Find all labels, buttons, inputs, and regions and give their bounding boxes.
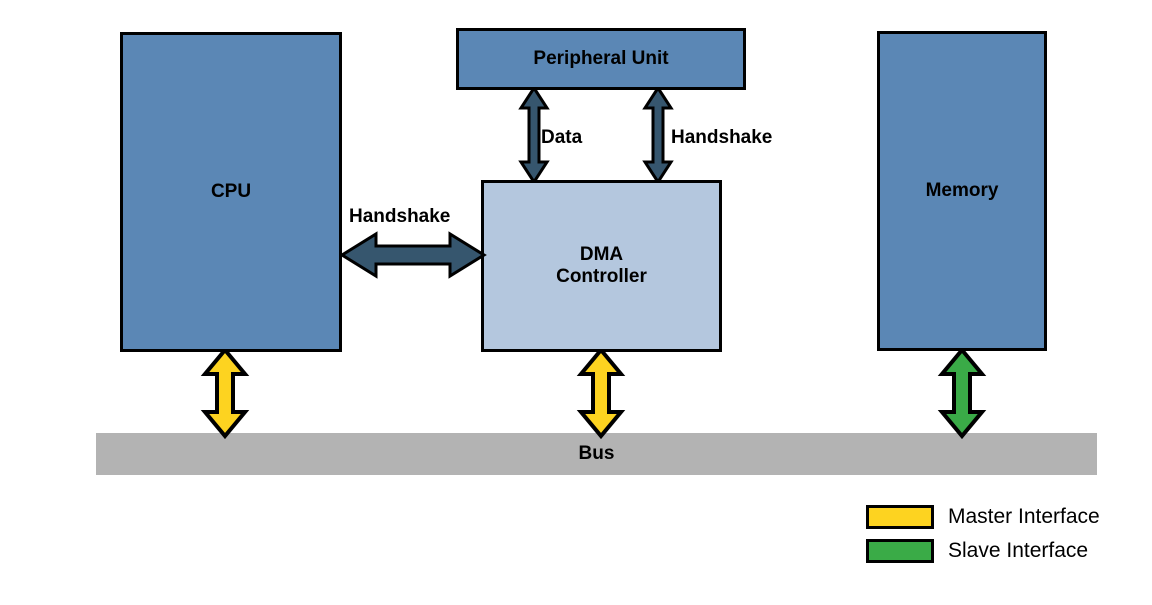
legend-label-slave-interface: Slave Interface (948, 539, 1088, 563)
block-bus[interactable]: Bus (96, 433, 1097, 475)
block-dma-controller-label-line1: DMA (580, 244, 623, 265)
diagram-canvas: CPU Peripheral Unit DMA Controller Memor… (0, 0, 1152, 605)
connector-cpu-bus-master-arrow (203, 350, 247, 436)
connector-cpu-dma-handshake-arrow (342, 232, 484, 278)
block-cpu[interactable]: CPU (120, 32, 342, 352)
block-bus-label: Bus (579, 443, 615, 465)
block-peripheral-unit-label: Peripheral Unit (533, 48, 668, 70)
block-memory-label: Memory (926, 180, 999, 202)
legend-label-master-interface: Master Interface (948, 505, 1100, 529)
block-cpu-label: CPU (211, 181, 251, 203)
connector-peripheral-dma-data-label: Data (541, 127, 582, 149)
connector-dma-bus-master-arrow (579, 350, 623, 436)
connector-cpu-dma-handshake-label: Handshake (349, 206, 450, 228)
legend-swatch-master-interface (866, 505, 934, 529)
block-dma-controller-label: DMA Controller (556, 244, 647, 289)
legend-item-master: Master Interface (866, 502, 1100, 532)
connector-peripheral-dma-handshake-arrow (643, 88, 673, 182)
connector-memory-bus-slave-arrow (940, 350, 984, 436)
block-dma-controller-label-line2: Controller (556, 266, 647, 287)
connector-peripheral-dma-handshake-label: Handshake (671, 127, 772, 149)
legend: Master Interface Slave Interface (866, 502, 1100, 570)
legend-item-slave: Slave Interface (866, 536, 1100, 566)
block-peripheral-unit[interactable]: Peripheral Unit (456, 28, 746, 90)
block-memory[interactable]: Memory (877, 31, 1047, 351)
block-dma-controller[interactable]: DMA Controller (481, 180, 722, 352)
legend-swatch-slave-interface (866, 539, 934, 563)
